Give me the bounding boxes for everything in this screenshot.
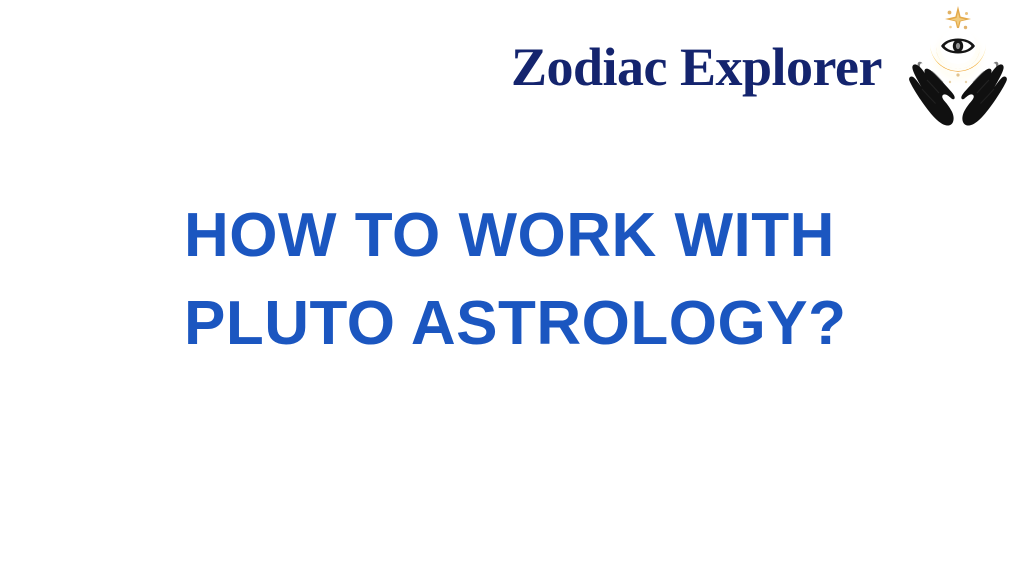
logo-dot <box>965 81 967 83</box>
page-root: Zodiac Explorer <box>0 0 1024 576</box>
hands-holding-crescent-moon-eye-icon <box>906 3 1010 137</box>
headline-line-1: HOW TO WORK WITH <box>184 192 904 280</box>
brand-logo-mark <box>906 3 1010 137</box>
brand-header: Zodiac Explorer <box>0 0 1024 140</box>
headline-line-2: PLUTO ASTROLOGY? <box>184 280 904 368</box>
logo-dot <box>956 73 959 76</box>
page-title: HOW TO WORK WITH PLUTO ASTROLOGY? <box>184 192 904 368</box>
logo-dot <box>949 81 951 83</box>
content-area-empty <box>0 370 1024 576</box>
brand-wordmark: Zodiac Explorer <box>511 40 882 94</box>
